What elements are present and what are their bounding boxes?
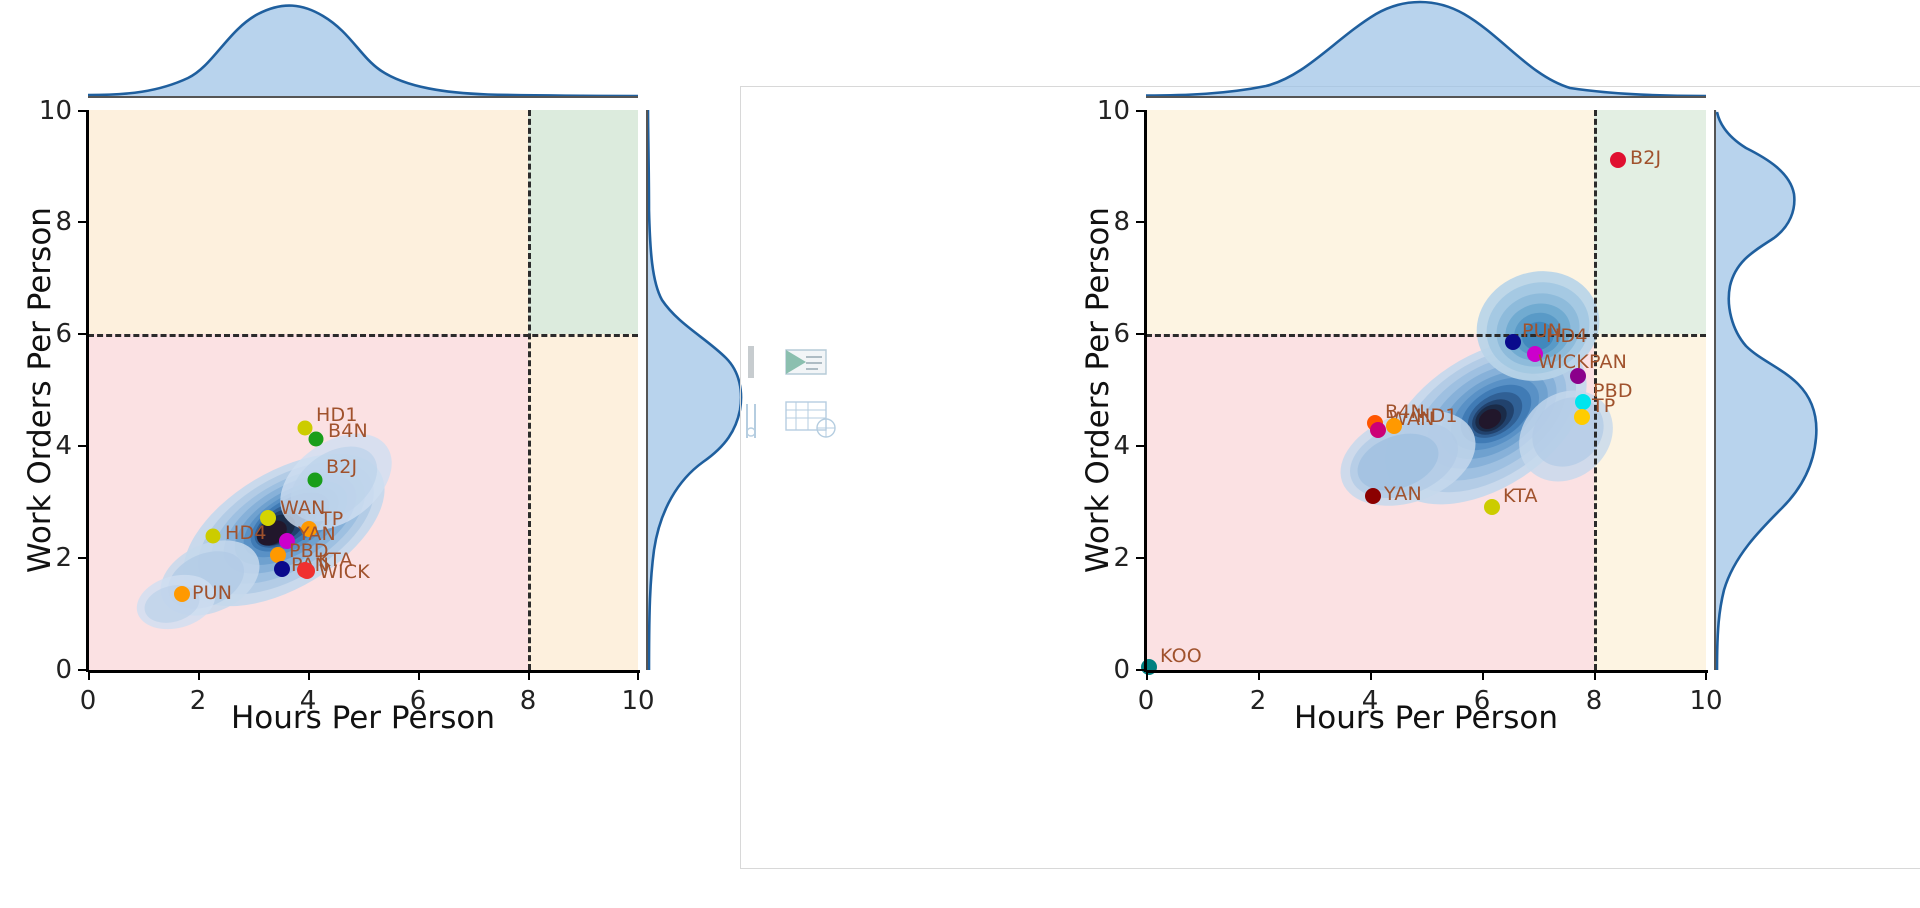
right-point-WAN[interactable] xyxy=(1370,422,1386,438)
left-point-PUN[interactable] xyxy=(174,586,190,602)
right-ytick-4 xyxy=(1136,445,1144,447)
right-frame-bottom xyxy=(740,868,1920,869)
left-point-label-HD4: HD4 xyxy=(225,522,267,544)
left-xtick-10 xyxy=(637,672,639,680)
left-xtick-6 xyxy=(418,672,420,680)
left-x-axis-title: Hours Per Person xyxy=(231,700,495,736)
left-y-axis-title: Work Orders Per Person xyxy=(22,207,58,573)
left-point-label-B4N: B4N xyxy=(328,420,368,442)
right-yticklabel-0: 0 xyxy=(1102,655,1130,685)
left-threshold-y-6 xyxy=(88,334,638,337)
right-frame-left xyxy=(740,86,741,868)
right-point-label-KOO: KOO xyxy=(1160,645,1202,667)
right-xticklabel-2: 2 xyxy=(1250,686,1267,716)
right-yticklabel-10: 10 xyxy=(1088,96,1130,126)
right-point-TP[interactable] xyxy=(1574,409,1590,425)
right-threshold-y-6 xyxy=(1146,334,1706,337)
right-ytick-10 xyxy=(1136,110,1144,112)
right-xticklabel-10: 10 xyxy=(1689,686,1722,716)
left-point-label-WAN: WAN xyxy=(280,497,326,519)
left-x-axis-line xyxy=(88,670,640,673)
left-y-axis-line xyxy=(86,110,89,672)
left-right-marginal-kde xyxy=(648,110,744,670)
left-kde-contours xyxy=(88,110,638,670)
right-right-marginal-kde xyxy=(1716,110,1820,670)
left-top-marginal-baseline xyxy=(88,96,638,98)
right-point-KTA[interactable] xyxy=(1484,499,1500,515)
right-top-marginal-kde xyxy=(1146,0,1706,96)
right-xtick-0 xyxy=(1146,672,1148,680)
left-xticklabel-2: 2 xyxy=(190,686,207,716)
left-scatter-plot-area: HD1 B4N B2J WAN TP HD4 YAN PBD PAN KTA W… xyxy=(88,110,638,670)
screenshot-root: HD1 B4N B2J WAN TP HD4 YAN PBD PAN KTA W… xyxy=(0,0,1920,908)
right-point-label-HD4: HD4 xyxy=(1546,325,1588,347)
left-xticklabel-10: 10 xyxy=(621,686,654,716)
left-point-B2J[interactable] xyxy=(307,472,322,487)
right-xtick-2 xyxy=(1258,672,1260,680)
right-point-label-PAN: PAN xyxy=(1589,351,1627,373)
right-x-axis-line xyxy=(1146,670,1708,673)
left-xtick-0 xyxy=(88,672,90,680)
right-point-B2J[interactable] xyxy=(1610,152,1626,168)
left-right-marginal-baseline xyxy=(646,110,648,670)
left-point-WICK[interactable] xyxy=(299,563,315,579)
right-point-label-B2J: B2J xyxy=(1630,147,1661,169)
right-x-axis-title: Hours Per Person xyxy=(1294,700,1558,736)
left-point-HD4[interactable] xyxy=(206,528,221,543)
left-point-B4N[interactable] xyxy=(309,431,324,446)
left-yticklabel-0: 0 xyxy=(44,655,72,685)
right-point-PUN[interactable] xyxy=(1505,334,1521,350)
right-scatter-plot-area: B2J PUN HD4 WICK PAN PBD TP B4N WAN HD1 … xyxy=(1146,110,1706,670)
left-ytick-2 xyxy=(78,557,86,559)
right-xtick-6 xyxy=(1482,672,1484,680)
right-point-PAN[interactable] xyxy=(1570,368,1586,384)
right-point-HD1[interactable] xyxy=(1386,418,1402,434)
left-point-PAN[interactable] xyxy=(274,561,290,577)
right-xtick-4 xyxy=(1370,672,1372,680)
left-xticklabel-0: 0 xyxy=(80,686,97,716)
right-ytick-6 xyxy=(1136,333,1144,335)
left-top-marginal-kde xyxy=(88,0,638,96)
right-point-label-HD1: HD1 xyxy=(1416,405,1458,427)
right-point-YAN[interactable] xyxy=(1365,488,1381,504)
left-point-label-B2J: B2J xyxy=(326,456,357,478)
right-right-marginal-baseline xyxy=(1714,110,1716,670)
left-xtick-4 xyxy=(308,672,310,680)
right-jointplot-panel: B2J PUN HD4 WICK PAN PBD TP B4N WAN HD1 … xyxy=(740,0,1920,908)
right-y-axis-line xyxy=(1144,110,1147,672)
right-ytick-2 xyxy=(1136,557,1144,559)
right-point-label-TP: TP xyxy=(1592,395,1615,417)
right-point-label-KTA: KTA xyxy=(1503,485,1538,507)
right-xticklabel-0: 0 xyxy=(1138,686,1155,716)
left-xtick-2 xyxy=(198,672,200,680)
right-xtick-10 xyxy=(1705,672,1707,680)
left-xticklabel-8: 8 xyxy=(520,686,537,716)
right-xticklabel-8: 8 xyxy=(1586,686,1603,716)
left-jointplot-panel: HD1 B4N B2J WAN TP HD4 YAN PBD PAN KTA W… xyxy=(0,0,760,908)
right-top-marginal-baseline xyxy=(1146,96,1706,98)
left-ytick-0 xyxy=(78,669,86,671)
left-point-label-PUN: PUN xyxy=(192,582,232,604)
right-point-label-YAN: YAN xyxy=(1384,483,1422,505)
right-ytick-8 xyxy=(1136,221,1144,223)
right-point-PBD[interactable] xyxy=(1575,394,1591,410)
left-yticklabel-10: 10 xyxy=(30,96,72,126)
right-xtick-8 xyxy=(1594,672,1596,680)
left-ytick-6 xyxy=(78,333,86,335)
left-point-label-WICK: WICK xyxy=(319,561,370,583)
right-ytick-0 xyxy=(1136,669,1144,671)
left-ytick-8 xyxy=(78,221,86,223)
left-xtick-8 xyxy=(528,672,530,680)
left-ytick-10 xyxy=(78,110,86,112)
left-ytick-4 xyxy=(78,445,86,447)
left-threshold-x-8 xyxy=(528,110,531,670)
right-y-axis-title: Work Orders Per Person xyxy=(1080,207,1116,573)
ghost-toolbar-icons xyxy=(740,340,870,460)
